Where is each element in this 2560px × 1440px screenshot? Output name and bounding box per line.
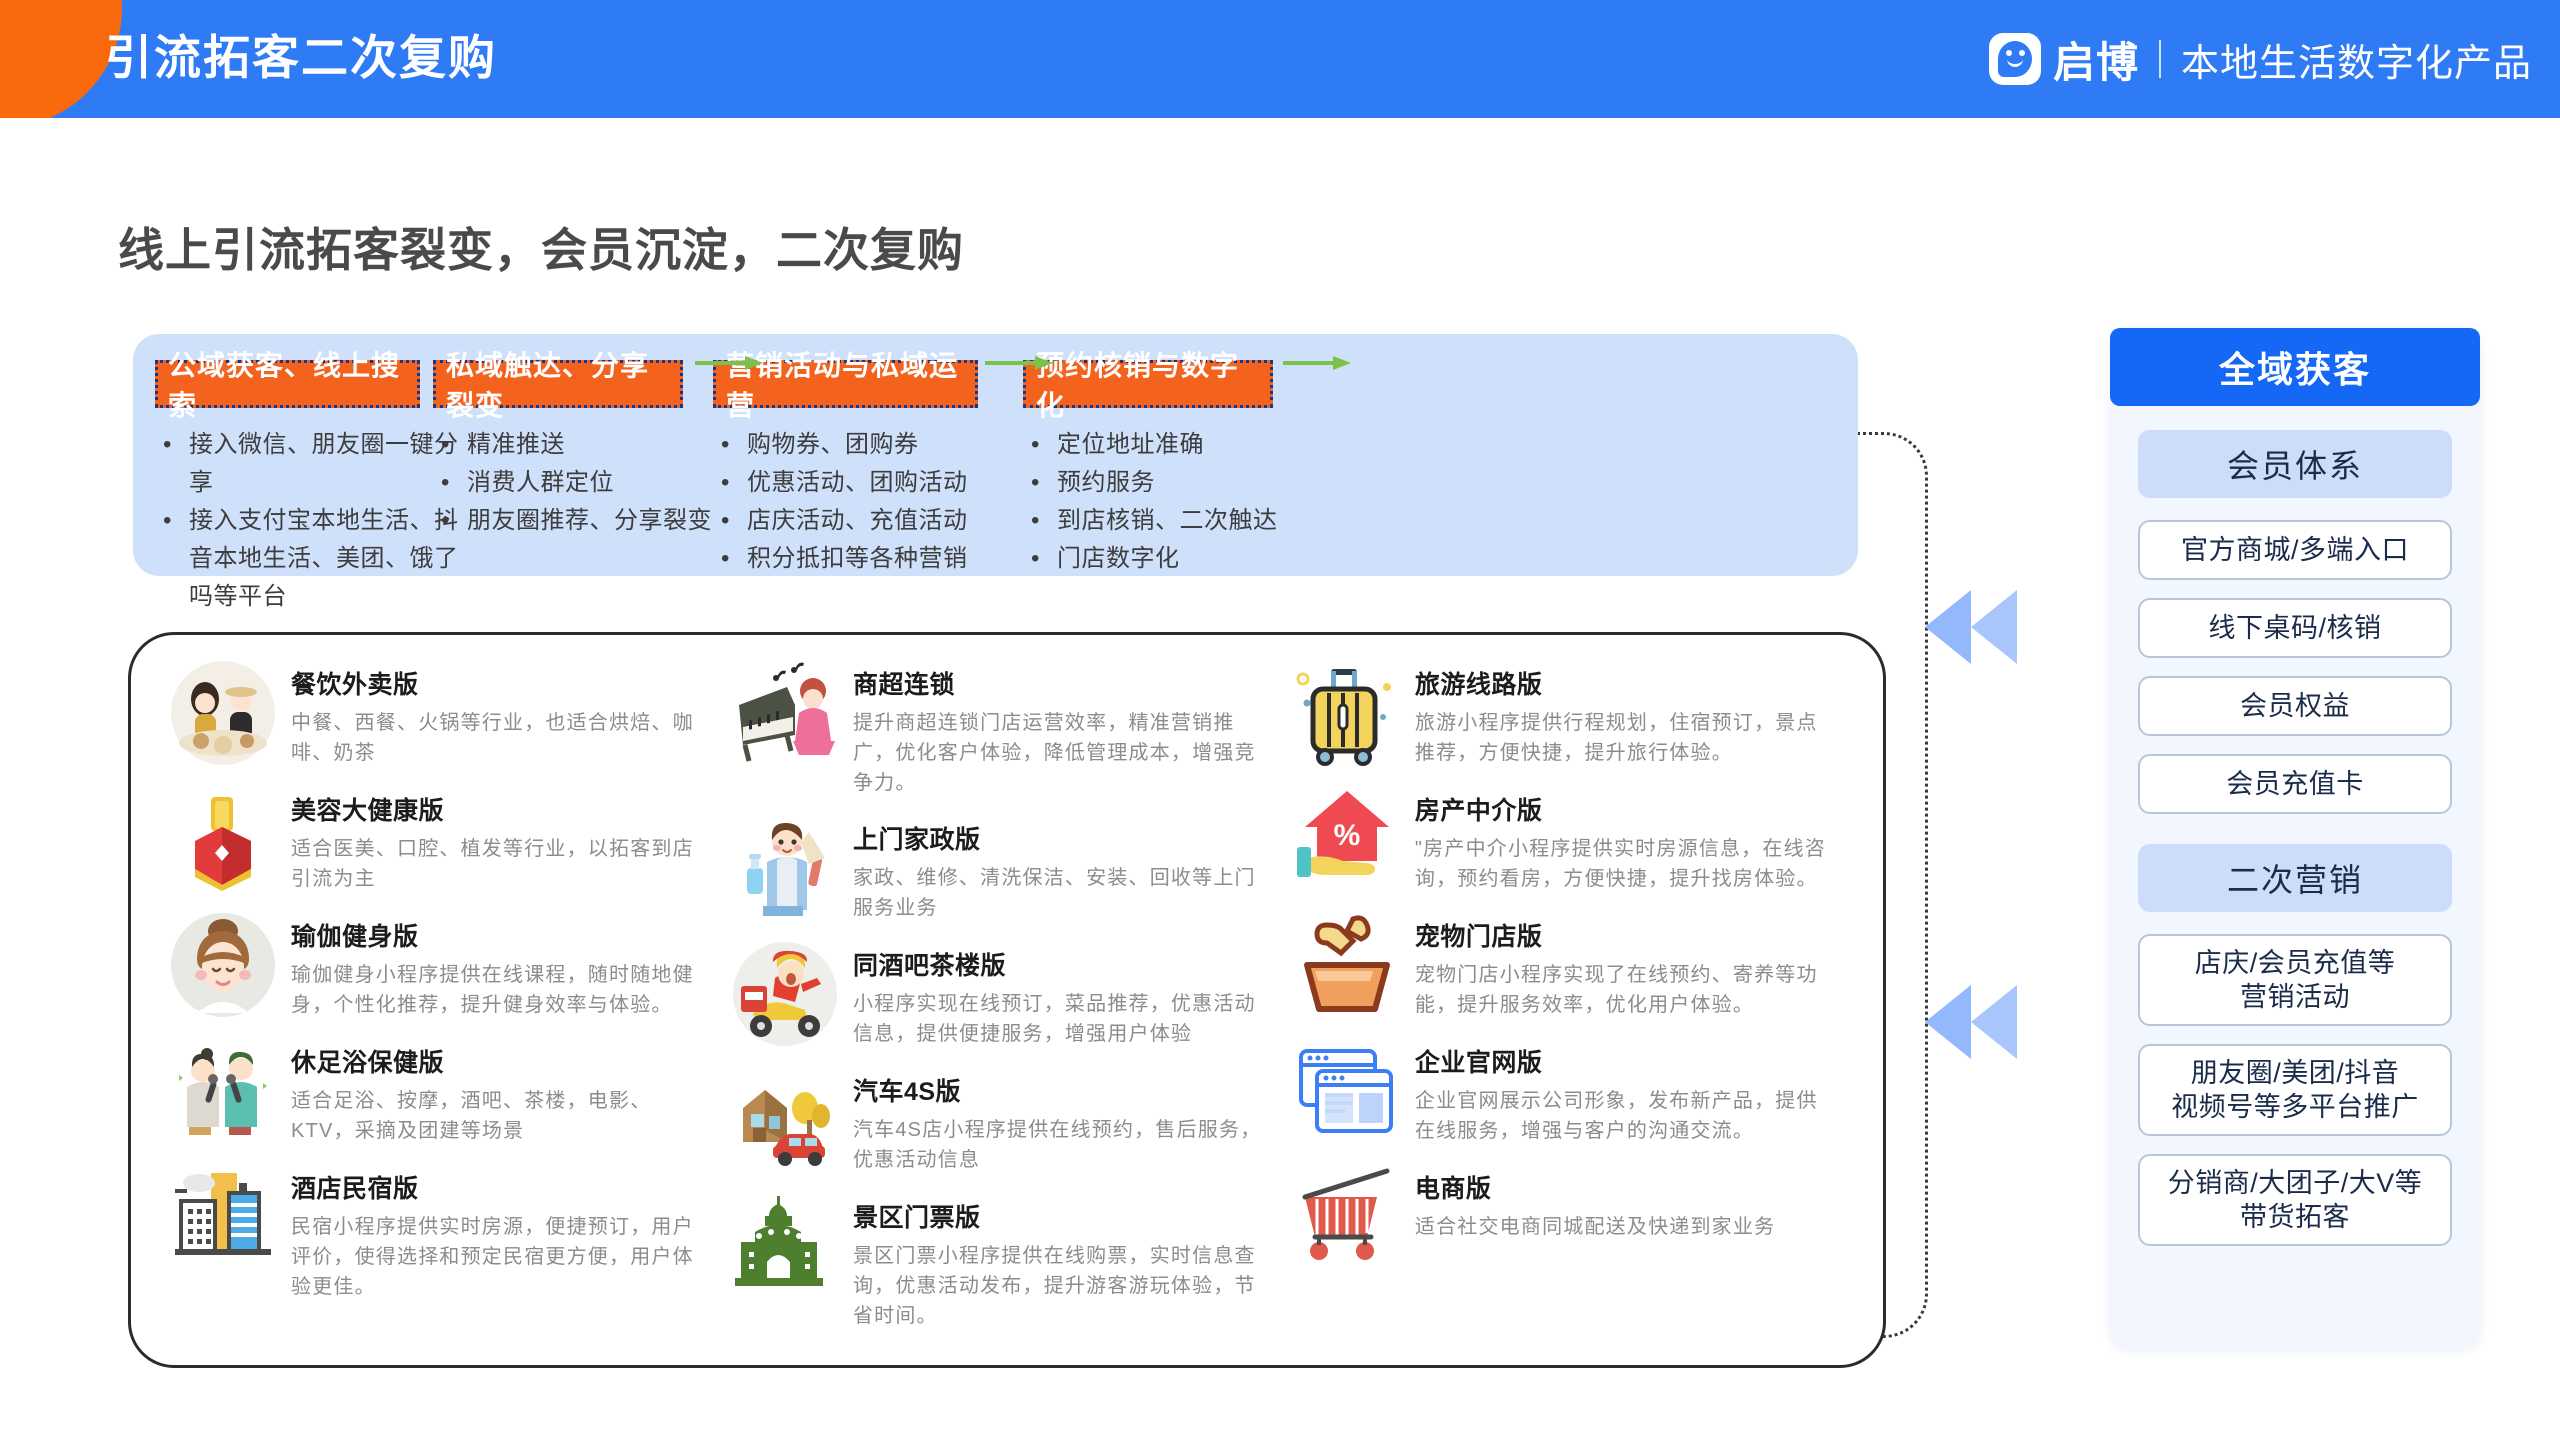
industry-card-desc: "房产中介小程序提供实时房源信息，在线咨询，预约看房，方便快捷，提升找房体验。 [1415, 834, 1839, 894]
flow-list-item: •定位地址准确 [1023, 426, 1318, 464]
flow-list-item: •预约服务 [1023, 464, 1318, 502]
industry-card[interactable]: 同酒吧茶楼版小程序实现在线预订，菜品推荐，优惠活动信息，提供便捷服务，增强用户体… [729, 938, 1277, 1050]
industry-card-body: 电商版适合社交电商同城配送及快递到家业务 [1415, 1161, 1839, 1242]
flow-list-item: •购物券、团购券 [713, 426, 1023, 464]
industry-card-body: 同酒吧茶楼版小程序实现在线预订，菜品推荐，优惠活动信息，提供便捷服务，增强用户体… [853, 938, 1277, 1049]
bullet-icon: • [163, 426, 172, 464]
page-title: 引流拓客二次复购 [105, 18, 497, 98]
flow-step-list: •接入微信、朋友圈一键分享•接入支付宝本地生活、抖音本地生活、美团、饿了吗等平台 [155, 426, 465, 616]
industry-card-desc: 提升商超连锁门店运营效率，精准营销推广，优化客户体验，降低管理成本，增强竞争力。 [853, 708, 1277, 798]
industry-card-desc: 宠物门店小程序实现了在线预约、寄养等功能，提升服务效率，优化用户体验。 [1415, 960, 1839, 1020]
industry-card[interactable]: 商超连锁提升商超连锁门店运营效率，精准营销推广，优化客户体验，降低管理成本，增强… [729, 657, 1277, 798]
delivery-scooter-icon [729, 938, 841, 1050]
industry-card-desc: 适合足浴、按摩，酒吧、茶楼，电影、KTV，采摘及团建等场景 [291, 1086, 715, 1146]
flow-list-item: •积分抵扣等各种营销 [713, 540, 1023, 578]
website-windows-icon [1291, 1035, 1403, 1147]
car-dealership-icon [729, 1064, 841, 1176]
cards-column-col3: 旅游线路版旅游小程序提供行程规划，住宿预订，景点推荐，方便快捷，提升旅行体验。%… [1291, 657, 1853, 1365]
flow-list-item: •精准推送 [433, 426, 728, 464]
sidebar-item[interactable]: 线下桌码/核销 [2138, 598, 2452, 658]
industry-card-body: 休足浴保健版适合足浴、按摩，酒吧、茶楼，电影、KTV，采摘及团建等场景 [291, 1035, 715, 1146]
industry-card-body: 美容大健康版适合医美、口腔、植发等行业，以拓客到店引流为主 [291, 783, 715, 894]
qibo-smiley-icon [1989, 33, 2041, 85]
industry-card-body: 房产中介版"房产中介小程序提供实时房源信息，在线咨询，预约看房，方便快捷，提升找… [1415, 783, 1839, 894]
industry-card-body: 宠物门店版宠物门店小程序实现了在线预约、寄养等功能，提升服务效率，优化用户体验。 [1415, 909, 1839, 1020]
bullet-icon: • [441, 502, 450, 540]
sidebar-item[interactable]: 朋友圈/美团/抖音视频号等多平台推广 [2138, 1044, 2452, 1136]
page-header: 引流拓客二次复购 启博 本地生活数字化产品 [0, 0, 2560, 118]
industry-card-desc: 适合医美、口腔、植发等行业，以拓客到店引流为主 [291, 834, 715, 894]
housekeeping-maid-icon [729, 812, 841, 924]
cards-column-col1: 餐饮外卖版中餐、西餐、火锅等行业，也适合烘焙、咖啡、奶茶美容大健康版适合医美、口… [167, 657, 729, 1365]
flow-list-item: •店庆活动、充值活动 [713, 502, 1023, 540]
flow-arrow-1-icon [695, 356, 765, 370]
flow-panel: 公域获客、线上搜索•接入微信、朋友圈一键分享•接入支付宝本地生活、抖音本地生活、… [133, 334, 1858, 576]
flow-arrow-3-icon [1283, 356, 1353, 370]
bullet-icon: • [1031, 502, 1040, 540]
industry-card-desc: 瑜伽健身小程序提供在线课程，随时随地健身，个性化推荐，提升健身效率与体验。 [291, 960, 715, 1020]
industry-card-body: 旅游线路版旅游小程序提供行程规划，住宿预订，景点推荐，方便快捷，提升旅行体验。 [1415, 657, 1839, 768]
svg-text:%: % [1334, 819, 1361, 852]
flow-list-item: •朋友圈推荐、分享裂变 [433, 502, 728, 540]
bullet-icon: • [441, 464, 450, 502]
flow-step-list: •精准推送•消费人群定位•朋友圈推荐、分享裂变 [433, 426, 728, 540]
industry-card-desc: 小程序实现在线预订，菜品推荐，优惠活动信息，提供便捷服务，增强用户体验 [853, 989, 1277, 1049]
industry-card[interactable]: 休足浴保健版适合足浴、按摩，酒吧、茶楼，电影、KTV，采摘及团建等场景 [167, 1035, 715, 1147]
flow-step-2: 私域触达、分享裂变•精准推送•消费人群定位•朋友圈推荐、分享裂变 [433, 360, 728, 540]
ktv-singers-icon [167, 1035, 279, 1147]
sidebar-item[interactable]: 会员权益 [2138, 676, 2452, 736]
nail-polish-beauty-icon [167, 783, 279, 895]
flow-step-4: 预约核销与数字化•定位地址准确•预约服务•到店核销、二次触达•门店数字化 [1023, 360, 1318, 578]
house-percent-hand-icon: % [1291, 783, 1403, 895]
industry-card-title: 宠物门店版 [1415, 917, 1839, 953]
flow-step-3: 营销活动与私域运营•购物券、团购券•优惠活动、团购活动•店庆活动、充值活动•积分… [713, 360, 1023, 578]
bullet-icon: • [441, 426, 450, 464]
industry-card-title: 企业官网版 [1415, 1043, 1839, 1079]
industry-card-title: 汽车4S版 [853, 1072, 1277, 1108]
flow-step-1: 公域获客、线上搜索•接入微信、朋友圈一键分享•接入支付宝本地生活、抖音本地生活、… [155, 360, 465, 616]
flow-list-item: •接入微信、朋友圈一键分享 [155, 426, 465, 502]
sidebar-item[interactable]: 分销商/大团子/大V等带货拓客 [2138, 1154, 2452, 1246]
chevron-left-top-icon [1925, 590, 2045, 664]
industry-card-title: 餐饮外卖版 [291, 665, 715, 701]
industry-card-desc: 民宿小程序提供实时房源，便捷预订，用户评价，使得选择和预定民宿更方便，用户体验更… [291, 1212, 715, 1302]
section-title: 线上引流拓客裂变，会员沉淀，二次复购 [118, 214, 964, 280]
industry-card[interactable]: 餐饮外卖版中餐、西餐、火锅等行业，也适合烘焙、咖啡、奶茶 [167, 657, 715, 769]
bullet-icon: • [1031, 464, 1040, 502]
flow-step-list: •定位地址准确•预约服务•到店核销、二次触达•门店数字化 [1023, 426, 1318, 578]
industry-card[interactable]: 宠物门店版宠物门店小程序实现了在线预约、寄养等功能，提升服务效率，优化用户体验。 [1291, 909, 1839, 1021]
industry-card-body: 商超连锁提升商超连锁门店运营效率，精准营销推广，优化客户体验，降低管理成本，增强… [853, 657, 1277, 798]
industry-card[interactable]: 美容大健康版适合医美、口腔、植发等行业，以拓客到店引流为主 [167, 783, 715, 895]
industry-card-desc: 旅游小程序提供行程规划，住宿预订，景点推荐，方便快捷，提升旅行体验。 [1415, 708, 1839, 768]
industry-card-title: 同酒吧茶楼版 [853, 946, 1277, 982]
sidebar-item[interactable]: 会员充值卡 [2138, 754, 2452, 814]
brand-name: 启博 [2053, 29, 2139, 90]
industry-card[interactable]: 旅游线路版旅游小程序提供行程规划，住宿预订，景点推荐，方便快捷，提升旅行体验。 [1291, 657, 1839, 769]
bullet-icon: • [721, 502, 730, 540]
chevron-left-bottom-icon [1925, 985, 2045, 1059]
sidebar-group-title[interactable]: 会员体系 [2138, 430, 2452, 498]
bullet-icon: • [1031, 540, 1040, 578]
industry-card-title: 美容大健康版 [291, 791, 715, 827]
industry-card[interactable]: 上门家政版家政、维修、清洗保洁、安装、回收等上门服务业务 [729, 812, 1277, 924]
flow-step-chip[interactable]: 预约核销与数字化 [1023, 360, 1273, 408]
bullet-icon: • [163, 502, 172, 540]
flow-step-chip[interactable]: 公域获客、线上搜索 [155, 360, 420, 408]
industry-card-body: 企业官网版企业官网展示公司形象，发布新产品，提供在线服务，增强与客户的沟通交流。 [1415, 1035, 1839, 1146]
suitcase-travel-icon [1291, 657, 1403, 769]
scenic-gate-icon [729, 1190, 841, 1302]
industry-card[interactable]: %房产中介版"房产中介小程序提供实时房源信息，在线咨询，预约看房，方便快捷，提升… [1291, 783, 1839, 895]
flow-list-item: •门店数字化 [1023, 540, 1318, 578]
industry-card-body: 上门家政版家政、维修、清洗保洁、安装、回收等上门服务业务 [853, 812, 1277, 923]
industry-card-body: 酒店民宿版民宿小程序提供实时房源，便捷预订，用户评价，使得选择和预定民宿更方便，… [291, 1161, 715, 1302]
industry-card-desc: 中餐、西餐、火锅等行业，也适合烘焙、咖啡、奶茶 [291, 708, 715, 768]
industry-card-title: 电商版 [1415, 1169, 1839, 1205]
industry-card-body: 瑜伽健身版瑜伽健身小程序提供在线课程，随时随地健身，个性化推荐，提升健身效率与体… [291, 909, 715, 1020]
piano-girl-icon [729, 657, 841, 769]
shopping-cart-icon [1291, 1161, 1403, 1273]
sidebar-item[interactable]: 店庆/会员充值等营销活动 [2138, 934, 2452, 1026]
sidebar-header: 全域获客 [2110, 328, 2480, 406]
sidebar-panel: 全域获客 会员体系官方商城/多端入口线下桌码/核销会员权益会员充值卡二次营销店庆… [2110, 328, 2480, 1348]
pet-bowl-bone-icon [1291, 909, 1403, 1021]
flow-arrow-2-icon [985, 356, 1055, 370]
industry-card-title: 商超连锁 [853, 665, 1277, 701]
cards-column-col2: 商超连锁提升商超连锁门店运营效率，精准营销推广，优化客户体验，降低管理成本，增强… [729, 657, 1291, 1365]
industry-card-title: 上门家政版 [853, 820, 1277, 856]
industry-card[interactable]: 瑜伽健身版瑜伽健身小程序提供在线课程，随时随地健身，个性化推荐，提升健身效率与体… [167, 909, 715, 1021]
industry-card-desc: 家政、维修、清洗保洁、安装、回收等上门服务业务 [853, 863, 1277, 923]
industry-card-title: 旅游线路版 [1415, 665, 1839, 701]
sidebar-group-title[interactable]: 二次营销 [2138, 844, 2452, 912]
industry-card[interactable]: 汽车4S版汽车4S店小程序提供在线预约，售后服务，优惠活动信息 [729, 1064, 1277, 1176]
brand-tagline: 本地生活数字化产品 [2181, 32, 2532, 87]
industry-cards-panel: 餐饮外卖版中餐、西餐、火锅等行业，也适合烘焙、咖啡、奶茶美容大健康版适合医美、口… [128, 632, 1886, 1368]
logo-divider [2159, 40, 2161, 78]
flow-list-item: •接入支付宝本地生活、抖音本地生活、美团、饿了吗等平台 [155, 502, 465, 616]
yoga-woman-icon [167, 909, 279, 1021]
industry-card-body: 餐饮外卖版中餐、西餐、火锅等行业，也适合烘焙、咖啡、奶茶 [291, 657, 715, 768]
flow-step-chip[interactable]: 私域触达、分享裂变 [433, 360, 683, 408]
industry-card-title: 瑜伽健身版 [291, 917, 715, 953]
industry-card-title: 景区门票版 [853, 1198, 1277, 1234]
industry-card-desc: 景区门票小程序提供在线购票，实时信息查询，优惠活动发布，提升游客游玩体验，节省时… [853, 1241, 1277, 1331]
industry-card-title: 房产中介版 [1415, 791, 1839, 827]
decorative-orange-dot [40, 62, 73, 95]
bullet-icon: • [721, 464, 730, 502]
sidebar-item[interactable]: 官方商城/多端入口 [2138, 520, 2452, 580]
decorative-orange-circle [0, 0, 122, 118]
brand-logo-group: 启博 本地生活数字化产品 [1989, 20, 2532, 98]
industry-card[interactable]: 企业官网版企业官网展示公司形象，发布新产品，提供在线服务，增强与客户的沟通交流。 [1291, 1035, 1839, 1147]
industry-card[interactable]: 电商版适合社交电商同城配送及快递到家业务 [1291, 1161, 1839, 1273]
industry-card-body: 汽车4S版汽车4S店小程序提供在线预约，售后服务，优惠活动信息 [853, 1064, 1277, 1175]
industry-card[interactable]: 酒店民宿版民宿小程序提供实时房源，便捷预订，用户评价，使得选择和预定民宿更方便，… [167, 1161, 715, 1302]
restaurant-takeout-icon [167, 657, 279, 769]
bullet-icon: • [1031, 426, 1040, 464]
industry-card-desc: 汽车4S店小程序提供在线预约，售后服务，优惠活动信息 [853, 1115, 1277, 1175]
sidebar-group-gap [2138, 832, 2452, 844]
bullet-icon: • [721, 540, 730, 578]
flow-list-item: •消费人群定位 [433, 464, 728, 502]
industry-card-desc: 适合社交电商同城配送及快递到家业务 [1415, 1212, 1839, 1242]
bullet-icon: • [721, 426, 730, 464]
flow-step-list: •购物券、团购券•优惠活动、团购活动•店庆活动、充值活动•积分抵扣等各种营销 [713, 426, 1023, 578]
industry-card-title: 休足浴保健版 [291, 1043, 715, 1079]
flow-list-item: •优惠活动、团购活动 [713, 464, 1023, 502]
hotel-buildings-icon [167, 1161, 279, 1273]
flow-list-item: •到店核销、二次触达 [1023, 502, 1318, 540]
industry-card-body: 景区门票版景区门票小程序提供在线购票，实时信息查询，优惠活动发布，提升游客游玩体… [853, 1190, 1277, 1331]
industry-card[interactable]: 景区门票版景区门票小程序提供在线购票，实时信息查询，优惠活动发布，提升游客游玩体… [729, 1190, 1277, 1331]
industry-card-title: 酒店民宿版 [291, 1169, 715, 1205]
industry-card-desc: 企业官网展示公司形象，发布新产品，提供在线服务，增强与客户的沟通交流。 [1415, 1086, 1839, 1146]
